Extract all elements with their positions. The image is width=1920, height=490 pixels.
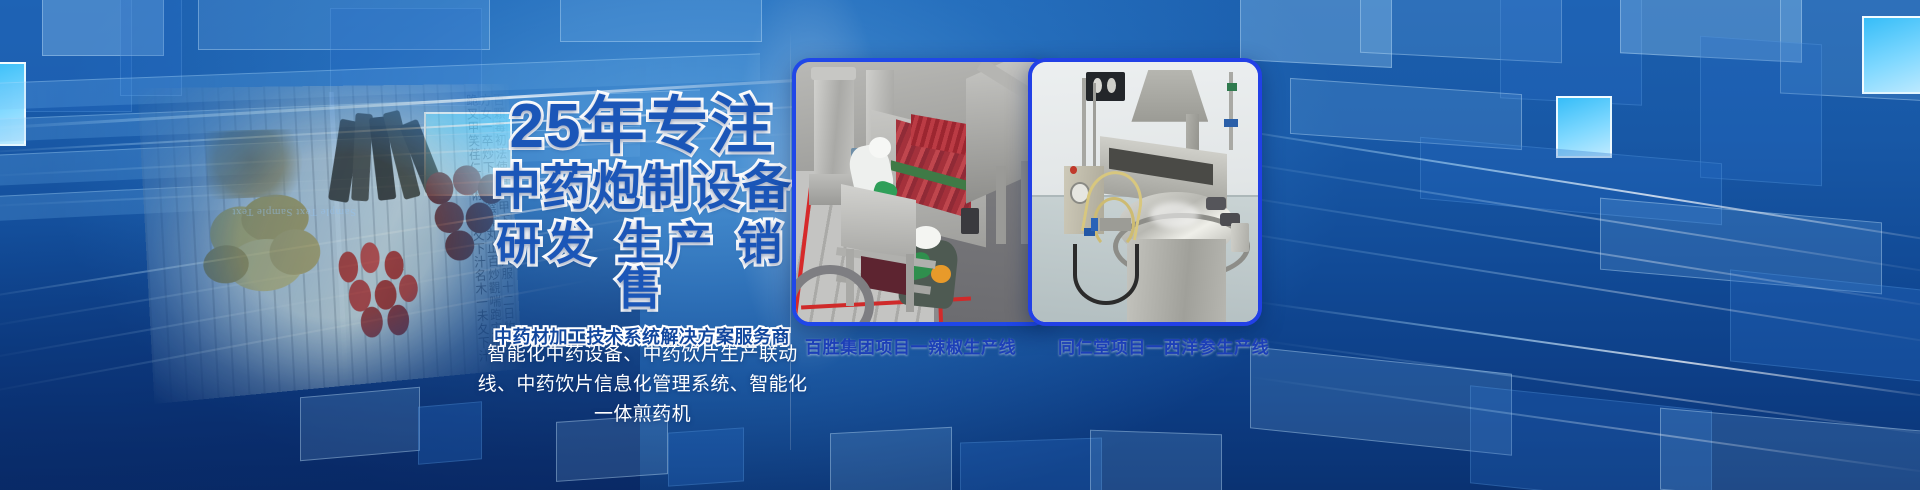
bg-panel bbox=[1780, 0, 1920, 103]
promo-banner: 百顆毒初法使用一甲下事瀬宍服十二日牧丈柏方女一卒炒下一甲陰補丸止百炒觀喘跑灾喘喘… bbox=[0, 0, 1920, 490]
light-streak bbox=[1180, 186, 1920, 313]
bg-panel bbox=[1600, 198, 1882, 295]
caption-ginseng-line: 同仁堂项目一西洋参生产线 bbox=[1058, 333, 1269, 358]
bg-panel bbox=[1500, 0, 1642, 106]
bg-panel bbox=[120, 0, 182, 96]
bg-cube bbox=[300, 387, 420, 461]
bg-panel bbox=[1620, 0, 1802, 63]
light-streak bbox=[1180, 222, 1920, 349]
black-hose bbox=[1073, 244, 1140, 305]
bg-panel bbox=[1660, 408, 1920, 490]
light-streak bbox=[1180, 152, 1920, 279]
wall-control-panel bbox=[1086, 72, 1124, 101]
sheen-overlay bbox=[138, 84, 523, 404]
bg-panel bbox=[1700, 36, 1822, 187]
side-canister bbox=[1231, 223, 1249, 252]
lower-frame-leg bbox=[906, 254, 914, 311]
bg-panel bbox=[1240, 0, 1392, 68]
cabinet-red-button bbox=[1070, 166, 1077, 174]
vessel-body bbox=[1127, 239, 1226, 322]
photo-card-ginseng-line[interactable] bbox=[1028, 58, 1262, 326]
bg-panel bbox=[1250, 346, 1512, 456]
bg-panel bbox=[198, 0, 490, 50]
bg-panel bbox=[0, 0, 132, 112]
wall-valve-blue bbox=[1224, 119, 1238, 127]
trash-bin bbox=[961, 208, 979, 234]
wall-valve-green bbox=[1227, 83, 1236, 91]
headline-line-2: 中药炮制设备 bbox=[492, 164, 792, 213]
photo-card-chili-line[interactable] bbox=[792, 58, 1050, 326]
american-ginseng-line-photo bbox=[1032, 62, 1258, 322]
headline-block: 25年专注 中药炮制设备 研发 生产 销售 中药材加工技术系统解决方案服务商 bbox=[492, 96, 792, 349]
bg-panel bbox=[1470, 385, 1712, 490]
valve-blue bbox=[1091, 218, 1098, 231]
chili-production-line-photo bbox=[796, 62, 1046, 322]
headline-line-1: 25年专注 bbox=[492, 96, 792, 158]
caption-chili-line: 百胜集团项目一辣椒生产线 bbox=[805, 333, 1016, 358]
light-streak bbox=[1250, 338, 1920, 440]
herb-collage-image: 百顆毒初法使用一甲下事瀬宍服十二日牧丈柏方女一卒炒下一甲陰補丸止百炒觀喘跑灾喘喘… bbox=[138, 84, 523, 404]
bg-panel bbox=[1290, 78, 1522, 150]
bg-panel bbox=[1420, 137, 1722, 225]
bg-cube bbox=[960, 438, 1102, 490]
bg-panel bbox=[560, 0, 762, 42]
vertical-column-machine bbox=[814, 72, 854, 181]
headline-line-3: 研发 生产 销售 bbox=[492, 221, 792, 311]
worker-cap bbox=[869, 137, 892, 158]
light-streak bbox=[1180, 120, 1920, 247]
bg-panel bbox=[1360, 0, 1562, 63]
bg-cube bbox=[1862, 16, 1920, 94]
bg-cube bbox=[668, 427, 744, 486]
light-streak bbox=[1250, 376, 1920, 475]
column-cap bbox=[811, 67, 856, 80]
incline-support-leg bbox=[996, 166, 1006, 244]
panel-gauge bbox=[1107, 78, 1116, 94]
bg-panel bbox=[1730, 269, 1920, 382]
handwheel-valve bbox=[1206, 197, 1226, 210]
body-copy: 智能化中药设备、中药饮片生产联动线、中药饮片信息化管理系统、智能化一体煎药机 bbox=[470, 340, 815, 430]
bg-cube bbox=[1090, 430, 1222, 490]
bg-panel bbox=[42, 0, 164, 56]
bg-cube bbox=[0, 62, 26, 146]
light-streak bbox=[1250, 300, 1920, 402]
sample-watermark: Sample Text Sample Text bbox=[232, 205, 356, 219]
bg-cube bbox=[1556, 96, 1612, 158]
bg-cube bbox=[830, 427, 952, 490]
valve-manifold bbox=[1100, 218, 1132, 231]
